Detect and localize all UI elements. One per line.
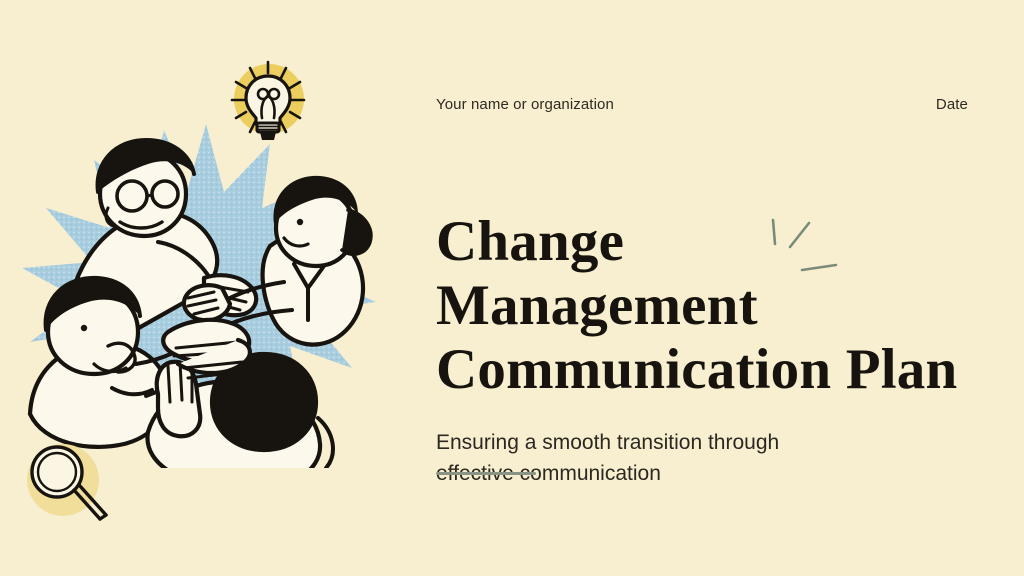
organization-label: Your name or organization <box>436 96 614 113</box>
magnifier-icon <box>16 432 116 532</box>
illustration-four-people-stacking-hands <box>8 96 408 468</box>
date-label: Date <box>936 96 968 113</box>
slide-subtitle: Ensuring a smooth transition through eff… <box>436 427 856 489</box>
slide-title: Change Management Communication Plan <box>436 210 996 402</box>
slide-header: Your name or organization Date <box>436 96 968 113</box>
subtitle-underline-rule <box>436 472 536 475</box>
lightbulb-icon <box>222 52 314 144</box>
slide-root: Your name or organization Date Change Ma… <box>0 0 1024 576</box>
